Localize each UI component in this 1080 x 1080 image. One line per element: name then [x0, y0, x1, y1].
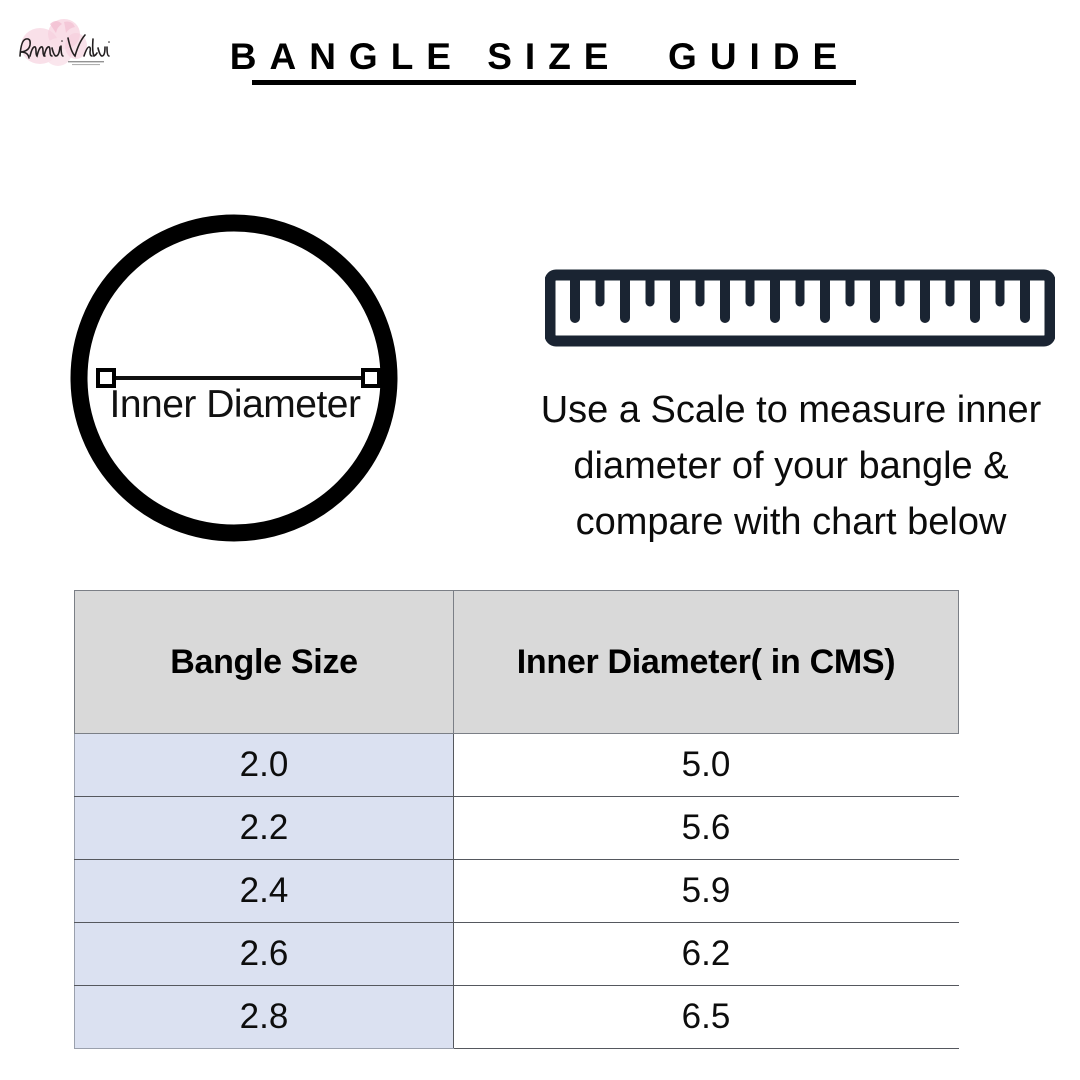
cell-bangle-size: 2.2: [75, 797, 454, 860]
table-row: 2.8 6.5: [75, 986, 959, 1049]
page-title: BANGLE SIZE GUIDE: [0, 36, 1080, 78]
column-header-inner-diameter: Inner Diameter( in CMS): [454, 591, 959, 734]
title-underline: [252, 80, 856, 85]
table-header-row: Bangle Size Inner Diameter( in CMS): [75, 591, 959, 734]
cell-bangle-size: 2.6: [75, 923, 454, 986]
table-row: 2.0 5.0: [75, 734, 959, 797]
table-row: 2.6 6.2: [75, 923, 959, 986]
cell-inner-diameter: 6.2: [454, 923, 959, 986]
ruler-icon: [545, 268, 1055, 354]
bangle-circle-diagram: [60, 200, 410, 560]
cell-bangle-size: 2.8: [75, 986, 454, 1049]
cell-bangle-size: 2.0: [75, 734, 454, 797]
cell-inner-diameter: 5.9: [454, 860, 959, 923]
inner-diameter-label: Inner Diameter: [70, 383, 400, 427]
cell-bangle-size: 2.4: [75, 860, 454, 923]
table-row: 2.4 5.9: [75, 860, 959, 923]
cell-inner-diameter: 6.5: [454, 986, 959, 1049]
measure-instructions: Use a Scale to measure inner diameter of…: [505, 382, 1077, 550]
column-header-bangle-size: Bangle Size: [75, 591, 454, 734]
table-row: 2.2 5.6: [75, 797, 959, 860]
cell-inner-diameter: 5.0: [454, 734, 959, 797]
bangle-size-table: Bangle Size Inner Diameter( in CMS) 2.0 …: [74, 590, 959, 1049]
cell-inner-diameter: 5.6: [454, 797, 959, 860]
